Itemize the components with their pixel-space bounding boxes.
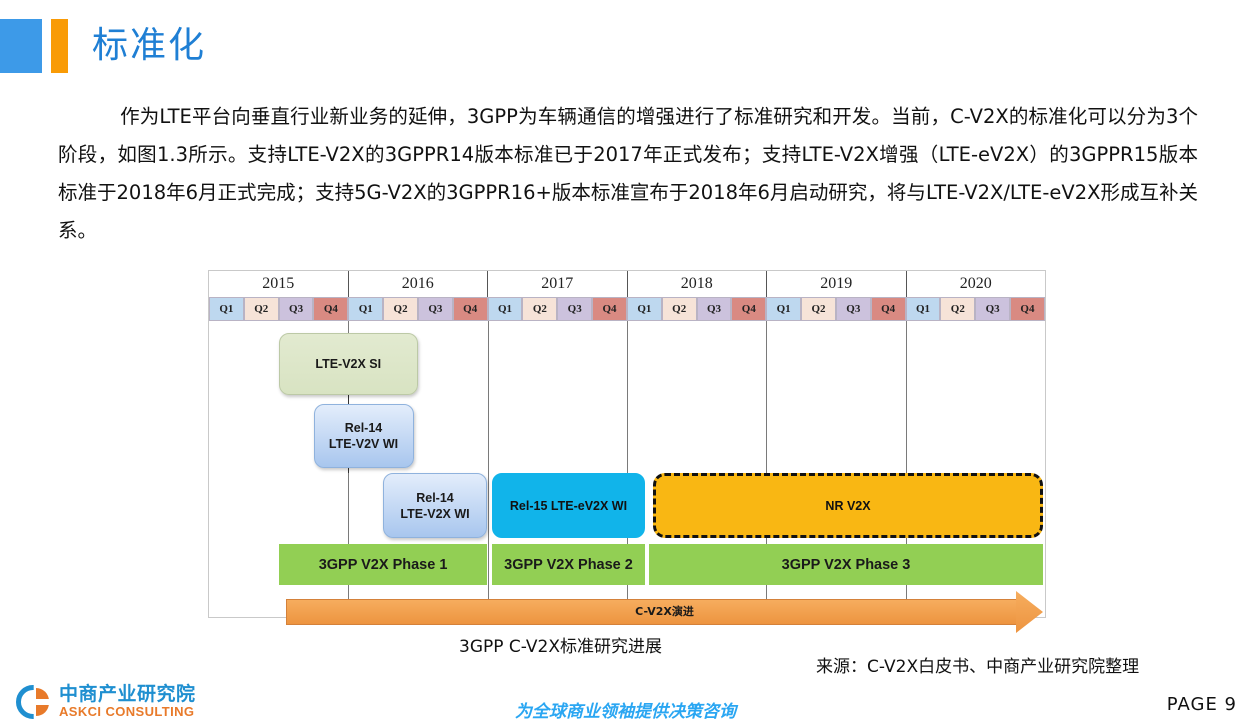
task-bar-phase-1[interactable]: 3GPP V2X Phase 1 [279, 544, 488, 585]
quarter-cell: Q4 [592, 297, 627, 321]
quarter-cell: Q2 [662, 297, 697, 321]
task-label-line2: LTE-V2X WI [400, 506, 469, 522]
task-bar-rel15-lte-ev2x-wi[interactable]: Rel-15 LTE-eV2X WI [492, 473, 645, 538]
figure-source: 来源：C-V2X白皮书、中商产业研究院整理 [816, 652, 1139, 677]
task-label: LTE-V2X SI [315, 356, 381, 372]
quarter-cell: Q2 [940, 297, 975, 321]
footer-slogan: 为全球商业领袖提供决策咨询 [0, 697, 1251, 722]
task-bar-nr-v2x[interactable]: NR V2X [653, 473, 1043, 538]
task-label: 3GPP V2X Phase 2 [504, 557, 633, 573]
task-bar-phase-2[interactable]: 3GPP V2X Phase 2 [492, 544, 645, 585]
quarter-cell: Q2 [801, 297, 836, 321]
task-label-line2: LTE-V2V WI [329, 436, 398, 452]
year-header-row: 2015 2016 2017 2018 2019 2020 [209, 271, 1045, 297]
page-title: 标准化 [92, 28, 206, 64]
task-label: Rel-15 LTE-eV2X WI [510, 498, 627, 514]
year-cell-2015: 2015 [209, 271, 349, 297]
task-bar-lte-v2x-si[interactable]: LTE-V2X SI [279, 333, 418, 395]
task-bar-rel14-lte-v2x-wi[interactable]: Rel-14 LTE-V2X WI [383, 473, 487, 538]
timeline-plot-area: LTE-V2X SI Rel-14 LTE-V2V WI Rel-14 LTE-… [209, 321, 1045, 617]
task-label-line1: Rel-14 [345, 420, 383, 436]
quarter-cell: Q1 [488, 297, 523, 321]
quarter-cell: Q4 [1010, 297, 1045, 321]
quarter-cell: Q1 [627, 297, 662, 321]
task-bar-rel14-lte-v2v-wi[interactable]: Rel-14 LTE-V2V WI [314, 404, 414, 468]
task-bar-phase-3[interactable]: 3GPP V2X Phase 3 [649, 544, 1043, 585]
quarter-cell: Q1 [348, 297, 383, 321]
title-accent-orange-block [51, 19, 68, 73]
task-label: 3GPP V2X Phase 1 [319, 557, 448, 573]
timeline-figure: 2015 2016 2017 2018 2019 2020 Q1 Q2 Q3 Q… [208, 270, 1046, 618]
body-paragraph: 作为LTE平台向垂直行业新业务的延伸，3GPP为车辆通信的增强进行了标准研究和开… [58, 98, 1198, 250]
quarter-cell: Q3 [836, 297, 871, 321]
figure-caption: 3GPP C-V2X标准研究进展 [459, 637, 662, 657]
quarter-cell: Q2 [522, 297, 557, 321]
quarter-header-row: Q1 Q2 Q3 Q4 Q1 Q2 Q3 Q4 Q1 Q2 Q3 Q4 Q1 Q… [209, 297, 1045, 321]
slide-title-row: 标准化 [0, 18, 206, 74]
quarter-cell: Q3 [557, 297, 592, 321]
quarter-cell: Q4 [731, 297, 766, 321]
quarter-cell: Q1 [766, 297, 801, 321]
quarter-cell: Q4 [871, 297, 906, 321]
task-label: 3GPP V2X Phase 3 [782, 557, 911, 573]
quarter-cell: Q4 [453, 297, 488, 321]
quarter-cell: Q1 [209, 297, 244, 321]
task-label: NR V2X [825, 498, 870, 514]
quarter-cell: Q1 [906, 297, 941, 321]
quarter-cell: Q2 [383, 297, 418, 321]
quarter-cell: Q3 [975, 297, 1010, 321]
quarter-cell: Q2 [244, 297, 279, 321]
year-cell-2016: 2016 [349, 271, 489, 297]
evolution-arrow: C-V2X演进 [286, 591, 1043, 633]
arrow-label: C-V2X演进 [286, 603, 1043, 619]
year-cell-2017: 2017 [488, 271, 628, 297]
quarter-cell: Q3 [697, 297, 732, 321]
year-cell-2020: 2020 [907, 271, 1046, 297]
paragraph-text: 作为LTE平台向垂直行业新业务的延伸，3GPP为车辆通信的增强进行了标准研究和开… [58, 105, 1198, 242]
year-cell-2018: 2018 [628, 271, 768, 297]
page-number: PAGE 9 [1167, 694, 1237, 715]
quarter-cell: Q4 [313, 297, 348, 321]
title-accent-blue-block [0, 19, 42, 73]
task-label-line1: Rel-14 [416, 490, 454, 506]
quarter-cell: Q3 [279, 297, 314, 321]
quarter-cell: Q3 [418, 297, 453, 321]
gridline-2017 [488, 321, 489, 617]
year-cell-2019: 2019 [767, 271, 907, 297]
